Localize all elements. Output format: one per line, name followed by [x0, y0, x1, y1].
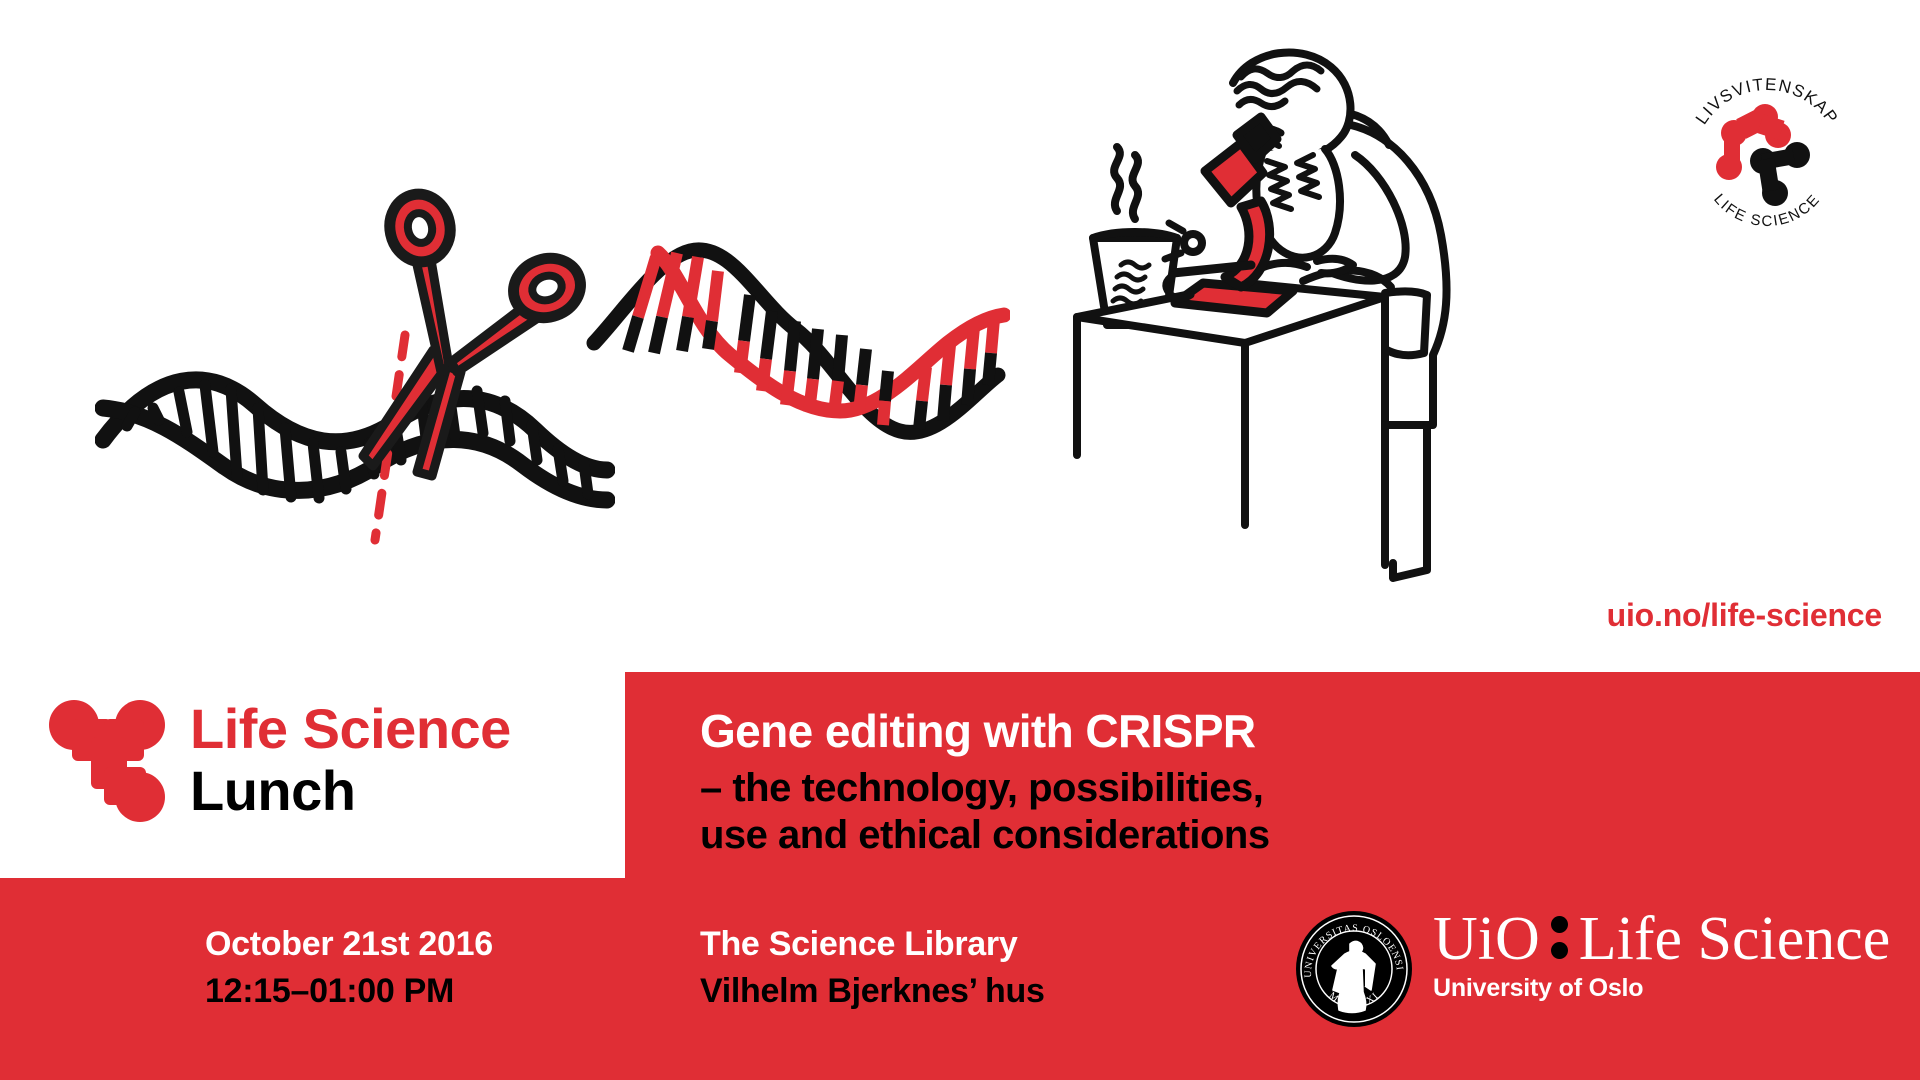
event-time: 12:15–01:00 PM — [205, 972, 493, 1011]
poster-canvas: LIVSVITENSKAP LIFE SCIENCE uio.no/life-s… — [0, 0, 1920, 1080]
website-url[interactable]: uio.no/life-science — [1607, 597, 1882, 634]
event-venue-block: The Science Library Vilhelm Bjerknes’ hu… — [700, 925, 1045, 1011]
venue-building: Vilhelm Bjerknes’ hus — [700, 972, 1045, 1011]
brand-line-1: Life Science — [190, 701, 511, 757]
steam-icon — [1114, 147, 1138, 219]
event-title: Gene editing with CRISPR — [700, 708, 1460, 755]
event-title-block: Gene editing with CRISPR – the technolog… — [700, 708, 1460, 859]
dna-double-helix-illustration — [580, 225, 1010, 455]
uio-tagline: University of Oslo — [1433, 974, 1890, 1003]
life-science-molecule-icon — [48, 697, 166, 825]
scientist-at-microscope-illustration — [1055, 25, 1485, 590]
lab-table — [1077, 283, 1385, 525]
uio-logo-lockup: UNIVERSITAS OSLOENSIS MDCCCXI UiO Life S… — [1295, 908, 1890, 1028]
scissors-cutting-dna-illustration — [95, 140, 615, 560]
scissors-icon — [363, 189, 589, 476]
molecule-icon-black — [1750, 142, 1810, 206]
event-date-block: October 21st 2016 12:15–01:00 PM — [205, 925, 493, 1011]
uio-wordmark: UiO Life Science — [1433, 908, 1890, 970]
event-subtitle-line-1: – the technology, possibilities, — [700, 765, 1460, 812]
uio-wordmark-right: Life Science — [1579, 908, 1891, 970]
event-subtitle-line-2: use and ethical considerations — [700, 812, 1460, 859]
uio-colon-icon — [1551, 916, 1568, 963]
event-date: October 21st 2016 — [205, 925, 493, 964]
brand-line-2: Lunch — [190, 763, 511, 819]
life-science-lunch-lockup: Life Science Lunch — [48, 697, 511, 825]
uio-seal-icon: UNIVERSITAS OSLOENSIS MDCCCXI — [1295, 910, 1413, 1028]
uio-wordmark-left: UiO — [1433, 908, 1540, 970]
livsvitenskap-life-science-logo: LIVSVITENSKAP LIFE SCIENCE — [1672, 55, 1862, 245]
venue-name: The Science Library — [700, 925, 1045, 964]
